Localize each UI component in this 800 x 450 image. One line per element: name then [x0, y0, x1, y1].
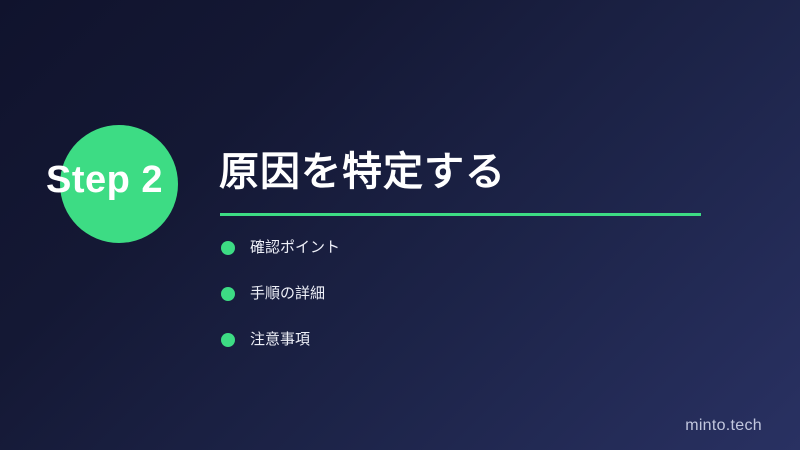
list-item: 確認ポイント [221, 240, 641, 286]
list-item-label: 手順の詳細 [250, 286, 325, 302]
list-item: 手順の詳細 [221, 286, 641, 332]
bullet-dot-icon [221, 241, 235, 255]
slide-canvas: Step 2 原因を特定する 確認ポイント 手順の詳細 注意事項 minto.t… [0, 0, 800, 450]
step-label: Step 2 [46, 155, 216, 205]
bullet-dot-icon [221, 287, 235, 301]
list-item: 注意事項 [221, 332, 641, 378]
bullet-dot-icon [221, 333, 235, 347]
list-item-label: 確認ポイント [250, 240, 340, 256]
title-divider [220, 213, 701, 216]
bullet-list: 確認ポイント 手順の詳細 注意事項 [221, 240, 641, 378]
list-item-label: 注意事項 [250, 332, 310, 348]
brand-footer: minto.tech [685, 417, 762, 435]
page-title: 原因を特定する [219, 146, 506, 198]
